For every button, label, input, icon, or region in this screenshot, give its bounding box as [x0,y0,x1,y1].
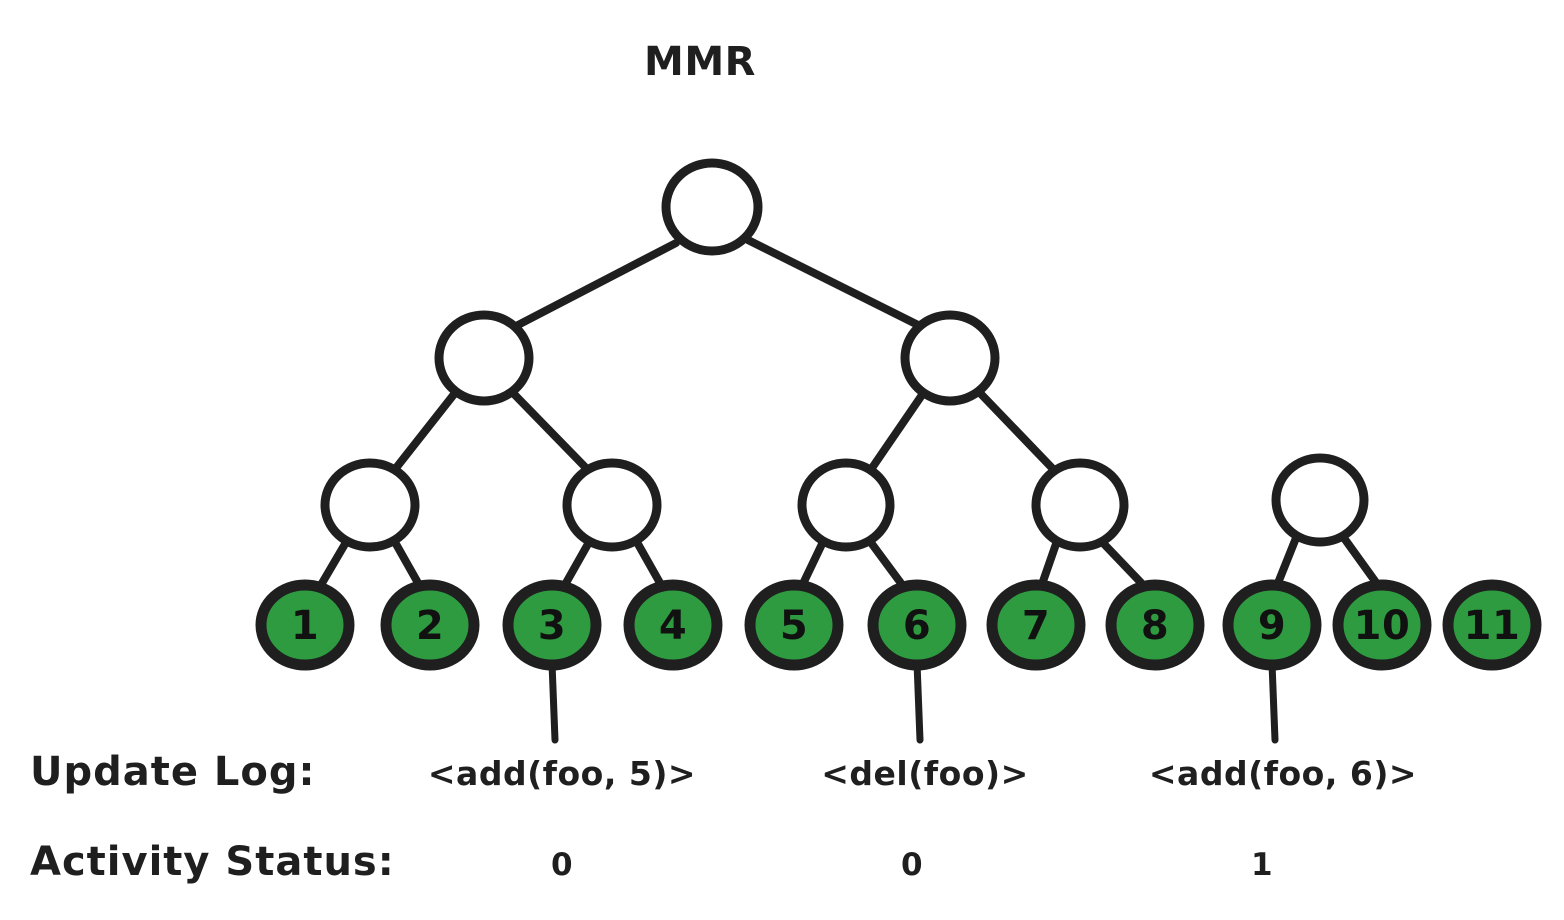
leaf-node-label-5: 5 [780,603,808,649]
edge-nr-to-nrl [872,395,922,468]
edge-root-to-left [518,243,676,325]
leaf-node-label-10: 10 [1354,603,1411,649]
leaf-node-label-8: 8 [1141,603,1169,649]
leaf-node-group: 1234567891011 [261,585,1536,665]
update-log-entry-group: <add(foo, 5)><del(foo)><add(foo, 6)> [428,754,1417,793]
edge-nl-to-nlr [513,393,588,470]
leaf-node[interactable]: 3 [508,585,596,665]
leaf-node[interactable]: 10 [1338,585,1426,665]
internal-node-left-right[interactable] [567,463,657,547]
leaf-node[interactable]: 11 [1448,585,1536,665]
update-log-label: Update Log: [30,749,316,795]
activity-status-value-2: 1 [1251,847,1273,883]
update-log-entry-2[interactable]: <add(foo, 6)> [1149,754,1417,793]
leaf-node-label-3: 3 [538,603,566,649]
internal-node-left-left[interactable] [325,463,415,547]
internal-node-group [325,163,1364,547]
leaf-node-label-6: 6 [903,603,931,649]
leaf-node[interactable]: 4 [629,585,717,665]
internal-node-right-left[interactable] [802,463,890,547]
activity-status-value-group: 001 [551,847,1273,883]
update-log-stem-group [552,663,1275,740]
update-log-stem-leaf-9 [1272,663,1275,740]
update-log-entry-0[interactable]: <add(foo, 5)> [428,754,696,793]
diagram-canvas: MMR [0,0,1564,920]
internal-node-right-right[interactable] [1036,463,1124,547]
leaf-node[interactable]: 7 [992,585,1080,665]
internal-node-left[interactable] [439,315,529,401]
page-title: MMR [644,39,756,85]
internal-node-root[interactable] [666,163,758,251]
leaf-node[interactable]: 6 [873,585,961,665]
update-log-stem-leaf-3 [552,663,555,740]
update-log-stem-leaf-6 [917,663,920,740]
leaf-node[interactable]: 9 [1228,585,1316,665]
leaf-node[interactable]: 8 [1111,585,1199,665]
activity-status-value-0: 0 [551,847,573,883]
leaf-node[interactable]: 5 [750,585,838,665]
leaf-node-label-11: 11 [1464,603,1521,649]
edge-root-to-right [748,240,918,325]
mmr-tree-diagram: MMR [0,0,1564,920]
activity-status-label: Activity Status: [30,839,395,885]
edge-nl-to-nll [396,393,455,468]
leaf-node-label-1: 1 [291,603,319,649]
leaf-node-label-9: 9 [1258,603,1286,649]
leaf-node-label-7: 7 [1022,603,1050,649]
leaf-node[interactable]: 1 [261,585,349,665]
internal-node-peak-extra[interactable] [1276,458,1364,542]
internal-node-right[interactable] [905,315,995,401]
leaf-node-label-2: 2 [416,603,444,649]
edge-nr-to-nrr [980,393,1054,470]
update-log-entry-1[interactable]: <del(foo)> [821,754,1028,793]
activity-status-value-1: 0 [901,847,923,883]
leaf-node-label-4: 4 [659,603,687,649]
leaf-node[interactable]: 2 [386,585,474,665]
